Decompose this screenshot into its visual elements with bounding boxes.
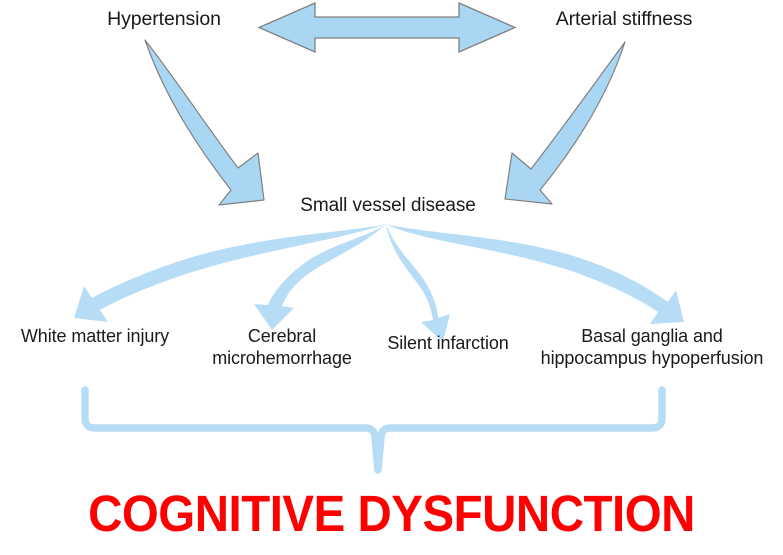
node-label-white-matter-injury: White matter injury [0, 326, 190, 348]
diagram-canvas: Hypertension Arterial stiffness Small ve… [0, 0, 783, 555]
node-label-cerebral-microhemorrhage: Cerebral microhemorrhage [192, 326, 372, 370]
node-label-arterial-stiffness: Arterial stiffness [540, 8, 708, 32]
hypertension-to-svd-arrow-icon [145, 40, 264, 205]
bidirectional-arrow-icon [259, 3, 515, 52]
node-label-cognitive-dysfunction: COGNITIVE DYSFUNCTION [27, 487, 755, 541]
arterial-to-svd-arrow-icon [505, 42, 625, 204]
node-label-hypertension: Hypertension [86, 8, 242, 32]
svd-to-silent-arrow-icon [386, 224, 450, 342]
curly-brace-icon [85, 390, 662, 470]
node-label-basal-ganglia-hypoperfusion: Basal ganglia and hippocampus hypoperfus… [524, 326, 780, 370]
node-label-silent-infarction: Silent infarction [368, 333, 528, 355]
node-label-small-vessel-disease: Small vessel disease [300, 194, 476, 217]
diagram-connectors-layer [0, 0, 783, 555]
svd-to-white-matter-arrow-icon [74, 224, 386, 322]
